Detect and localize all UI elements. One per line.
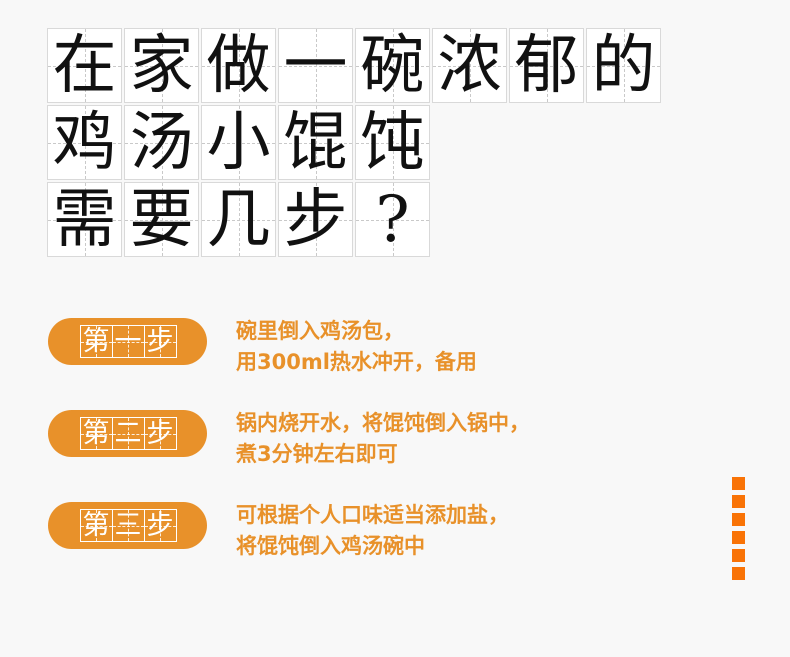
title-grid-cell: 家 [124,28,199,103]
title-character: 需 [48,183,121,256]
step-badge-1: 第 一 步 [48,318,207,365]
title-grid-cell: 在 [47,28,122,103]
step-item: 第 一 步 碗里倒入鸡汤包， 用300ml热水冲开，备用 [48,316,748,408]
badge-character: 三 [113,510,144,541]
badge-character-grid: 第 三 步 [80,509,176,542]
badge-character: 第 [81,510,112,541]
badge-character-grid: 第 一 步 [80,325,176,358]
step-description-line: 碗里倒入鸡汤包， [236,316,477,347]
decorative-square-icon [732,549,745,562]
title-character: 馄 [279,106,352,179]
title-row-3: 需 要 几 步 ? [47,182,663,257]
title-grid-cell: 馄 [278,105,353,180]
title-grid-cell: 小 [201,105,276,180]
title-character: 做 [202,29,275,102]
step-description-line: 将馄饨倒入鸡汤碗中 [236,531,509,562]
step-description-line: 可根据个人口味适当添加盐， [236,500,509,531]
badge-character-grid: 第 二 步 [80,417,176,450]
badge-character: 第 [81,326,112,357]
step-description-1: 碗里倒入鸡汤包， 用300ml热水冲开，备用 [236,316,477,378]
title-grid-cell: 步 [278,182,353,257]
step-item: 第 二 步 锅内烧开水，将馄饨倒入锅中， 煮3分钟左右即可 [48,408,748,500]
title-grid-cell: 饨 [355,105,430,180]
badge-character: 一 [113,326,144,357]
decorative-square-icon [732,513,745,526]
step-badge-3: 第 三 步 [48,502,207,549]
badge-character: 步 [145,326,176,357]
title-character: 郁 [510,29,583,102]
badge-grid-cell: 二 [112,417,145,450]
title-grid-cell: 做 [201,28,276,103]
badge-grid-cell: 第 [80,417,113,450]
badge-grid-cell: 第 [80,509,113,542]
step-item: 第 三 步 可根据个人口味适当添加盐， 将馄饨倒入鸡汤碗中 [48,500,748,592]
badge-character: 步 [145,510,176,541]
title-character: ? [356,183,429,256]
title-grid-cell: 汤 [124,105,199,180]
title-grid-cell: 几 [201,182,276,257]
step-description-line: 煮3分钟左右即可 [236,439,530,470]
decorative-square-icon [732,495,745,508]
steps-list: 第 一 步 碗里倒入鸡汤包， 用300ml热水冲开，备用 [48,316,748,592]
title-grid-cell: 的 [586,28,661,103]
title-character: 的 [587,29,660,102]
badge-grid-cell: 步 [144,417,177,450]
title-grid-cell: 浓 [432,28,507,103]
step-description-3: 可根据个人口味适当添加盐， 将馄饨倒入鸡汤碗中 [236,500,509,562]
badge-grid-cell: 一 [112,325,145,358]
title-character: 汤 [125,106,198,179]
decorative-square-icon [732,477,745,490]
title-character: 要 [125,183,198,256]
decorative-square-icon [732,531,745,544]
title-character: 几 [202,183,275,256]
title-character: 碗 [356,29,429,102]
title-grid-cell: 要 [124,182,199,257]
step-description-line: 锅内烧开水，将馄饨倒入锅中， [236,408,530,439]
title-character: 家 [125,29,198,102]
badge-grid-cell: 步 [144,509,177,542]
badge-grid-cell: 第 [80,325,113,358]
title-character: 在 [48,29,121,102]
badge-grid-cell: 三 [112,509,145,542]
title-grid-cell: 一 [278,28,353,103]
title-character-grid: 在 家 做 一 碗 [47,28,663,257]
title-grid-cell: ? [355,182,430,257]
decorative-square-icon [732,567,745,580]
title-character: 浓 [433,29,506,102]
step-description-line: 用300ml热水冲开，备用 [236,347,477,378]
title-row-1: 在 家 做 一 碗 [47,28,663,103]
recipe-steps-infographic: 在 家 做 一 碗 [0,0,790,657]
step-badge-2: 第 二 步 [48,410,207,457]
title-character: 鸡 [48,106,121,179]
title-character: 步 [279,183,352,256]
step-description-2: 锅内烧开水，将馄饨倒入锅中， 煮3分钟左右即可 [236,408,530,470]
badge-character: 二 [113,418,144,449]
title-grid-cell: 碗 [355,28,430,103]
decorative-dot-column [732,477,745,580]
title-character: 小 [202,106,275,179]
title-row-2: 鸡 汤 小 馄 饨 [47,105,663,180]
badge-grid-cell: 步 [144,325,177,358]
title-character: 一 [279,29,352,102]
title-grid-cell: 需 [47,182,122,257]
title-grid-cell: 郁 [509,28,584,103]
badge-character: 步 [145,418,176,449]
badge-character: 第 [81,418,112,449]
title-character: 饨 [356,106,429,179]
title-grid-cell: 鸡 [47,105,122,180]
